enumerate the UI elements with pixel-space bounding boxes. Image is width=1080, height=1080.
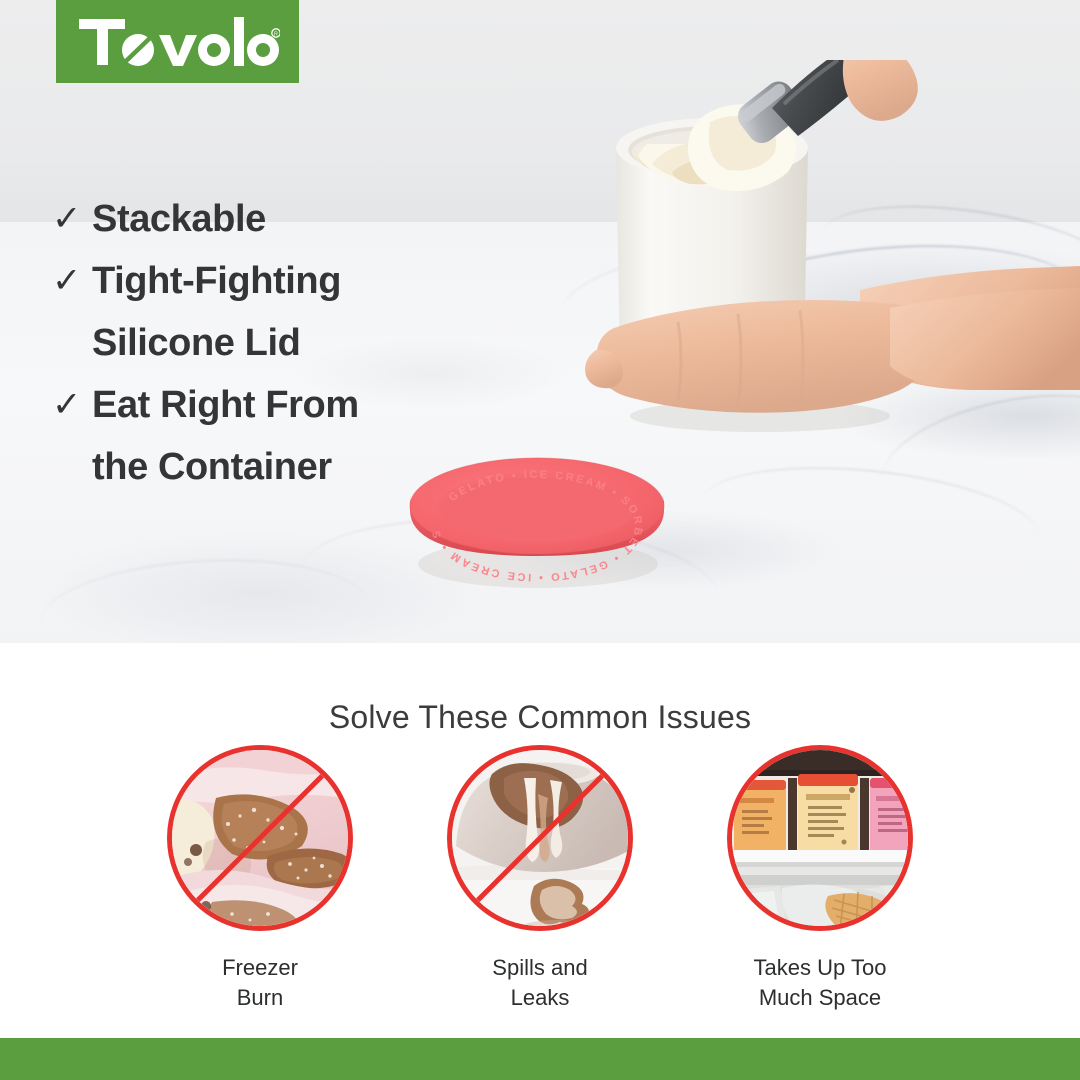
bullet-label: the Container [92, 441, 332, 493]
issue-label: Takes Up Too Much Space [680, 953, 960, 1013]
ice-cream-pint [734, 780, 786, 852]
checkmark-icon: ✓ [52, 255, 92, 307]
tovolo-logo: R [56, 0, 299, 83]
bullet-label: Tight-Fighting [92, 255, 341, 307]
list-item-continuation: Silicone Lid [52, 317, 482, 369]
list-item: ✓ Stackable [52, 193, 482, 245]
tovolo-wordmark: R [75, 13, 280, 71]
issue-label: Spills and Leaks [400, 953, 680, 1013]
crowded-freezer-shelf-image [732, 750, 913, 931]
ice-cream-pint [798, 774, 858, 854]
bullet-label: Eat Right From [92, 379, 359, 431]
issues-section: Solve These Common Issues [0, 643, 1080, 1038]
issue-item-freezer-burn: Freezer Burn [120, 745, 400, 1013]
bullet-label: Silicone Lid [92, 317, 300, 369]
hero-section: GELATO • ICE CREAM • SORBET • GELATO • I… [0, 0, 1080, 643]
footer-brand-bar [0, 1038, 1080, 1080]
ice-cream-pint [870, 778, 913, 852]
list-item: ✓ Eat Right From [52, 379, 482, 431]
issue-item-spills-and-leaks: Spills and Leaks [400, 745, 680, 1013]
issue-image-circle [447, 745, 633, 931]
issue-image-circle [167, 745, 353, 931]
svg-text:R: R [274, 31, 278, 37]
section-title: Solve These Common Issues [0, 699, 1080, 736]
freezer-burned-ice-cream-image [172, 750, 353, 931]
issue-item-takes-up-too-much-space: Takes Up Too Much Space [680, 745, 960, 1013]
bullet-label: Stackable [92, 193, 266, 245]
feature-bullet-list: ✓ Stackable ✓ Tight-Fighting Silicone Li… [52, 193, 482, 503]
list-item: ✓ Tight-Fighting [52, 255, 482, 307]
issues-list: Freezer Burn [0, 745, 1080, 1035]
list-item-continuation: the Container [52, 441, 482, 493]
issue-image-circle [727, 745, 913, 931]
checkmark-icon: ✓ [52, 379, 92, 431]
issue-label: Freezer Burn [120, 953, 400, 1013]
product-infographic: GELATO • ICE CREAM • SORBET • GELATO • I… [0, 0, 1080, 1080]
checkmark-icon: ✓ [52, 193, 92, 245]
thumb [843, 60, 918, 121]
melting-dripping-ice-cream-image [452, 750, 633, 931]
wrist [890, 288, 1080, 390]
